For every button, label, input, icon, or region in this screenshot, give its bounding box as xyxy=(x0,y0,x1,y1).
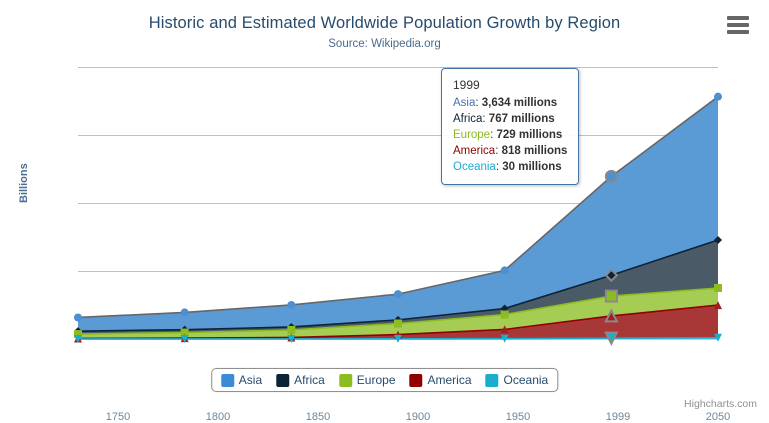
legend-item-africa[interactable]: Africa xyxy=(276,373,325,387)
menu-bar-1 xyxy=(727,16,749,20)
legend-label: Africa xyxy=(294,373,325,387)
x-tick-label: 2050 xyxy=(706,411,730,423)
point-oceania-1999[interactable] xyxy=(606,333,617,344)
tooltip-row-america: America: 818 millions xyxy=(453,143,567,159)
x-tick-label: 1850 xyxy=(306,411,330,423)
menu-bar-2 xyxy=(727,23,749,27)
tooltip-series-value: 30 millions xyxy=(502,161,561,173)
x-tick-label: 1900 xyxy=(406,411,430,423)
tooltip-series-name: Europe xyxy=(453,129,490,141)
tooltip-series-value: 818 millions xyxy=(502,145,568,157)
x-tick-label: 1750 xyxy=(106,411,130,423)
legend-item-america[interactable]: America xyxy=(410,373,472,387)
point-asia-1900[interactable] xyxy=(394,290,402,298)
point-europe-2050[interactable] xyxy=(714,284,722,292)
point-asia-1850[interactable] xyxy=(287,301,295,309)
y-axis-title: Billions xyxy=(18,163,30,203)
legend-item-oceania[interactable]: Oceania xyxy=(486,373,549,387)
tooltip: 1999 Asia: 3,634 millionsAfrica: 767 mil… xyxy=(441,68,579,185)
tooltip-series-value: 3,634 millions xyxy=(482,97,557,109)
point-europe-1999[interactable] xyxy=(606,291,617,302)
tooltip-series-value: 767 millions xyxy=(489,113,555,125)
point-asia-1800[interactable] xyxy=(181,308,189,316)
legend-swatch-icon xyxy=(486,374,499,387)
tooltip-series-name: America xyxy=(453,145,495,157)
legend-item-asia[interactable]: Asia xyxy=(221,373,262,387)
legend-label: Europe xyxy=(357,373,396,387)
legend-item-europe[interactable]: Europe xyxy=(339,373,396,387)
tooltip-series-name: Asia xyxy=(453,97,475,109)
chart-container: Historic and Estimated Worldwide Populat… xyxy=(0,0,769,416)
hamburger-menu-icon[interactable] xyxy=(727,16,749,34)
credits-link[interactable]: Highcharts.com xyxy=(684,398,757,410)
tooltip-row-africa: Africa: 767 millions xyxy=(453,111,567,127)
tooltip-row-oceania: Oceania: 30 millions xyxy=(453,159,567,175)
chart-title: Historic and Estimated Worldwide Populat… xyxy=(0,14,769,33)
legend: AsiaAfricaEuropeAmericaOceania xyxy=(211,368,558,392)
point-asia-1950[interactable] xyxy=(501,266,509,274)
tooltip-header: 1999 xyxy=(453,77,567,95)
point-asia-1999[interactable] xyxy=(606,171,617,182)
chart-subtitle: Source: Wikipedia.org xyxy=(0,38,769,50)
menu-bar-3 xyxy=(727,30,749,34)
plot-area: 10 7.5 5 2.5 0 1750 1800 1850 1900 1950 … xyxy=(78,67,718,339)
x-tick-label: 1950 xyxy=(506,411,530,423)
point-europe-1850[interactable] xyxy=(287,326,295,334)
tooltip-series-name: Africa xyxy=(453,113,482,125)
point-asia-1750[interactable] xyxy=(74,313,82,321)
legend-label: Oceania xyxy=(504,373,549,387)
legend-swatch-icon xyxy=(339,374,352,387)
x-tick-label: 1999 xyxy=(606,411,630,423)
legend-swatch-icon xyxy=(276,374,289,387)
legend-label: Asia xyxy=(239,373,262,387)
point-asia-2050[interactable] xyxy=(714,93,722,101)
x-tick-label: 1800 xyxy=(206,411,230,423)
tooltip-series-name: Oceania xyxy=(453,161,496,173)
tooltip-row-asia: Asia: 3,634 millions xyxy=(453,95,567,111)
legend-label: America xyxy=(428,373,472,387)
legend-swatch-icon xyxy=(410,374,423,387)
point-europe-1950[interactable] xyxy=(501,311,509,319)
legend-swatch-icon xyxy=(221,374,234,387)
point-europe-1900[interactable] xyxy=(394,319,402,327)
tooltip-rows: Asia: 3,634 millionsAfrica: 767 millions… xyxy=(453,95,567,175)
tooltip-series-value: 729 millions xyxy=(496,129,562,141)
tooltip-row-europe: Europe: 729 millions xyxy=(453,127,567,143)
series-layer xyxy=(78,67,718,339)
